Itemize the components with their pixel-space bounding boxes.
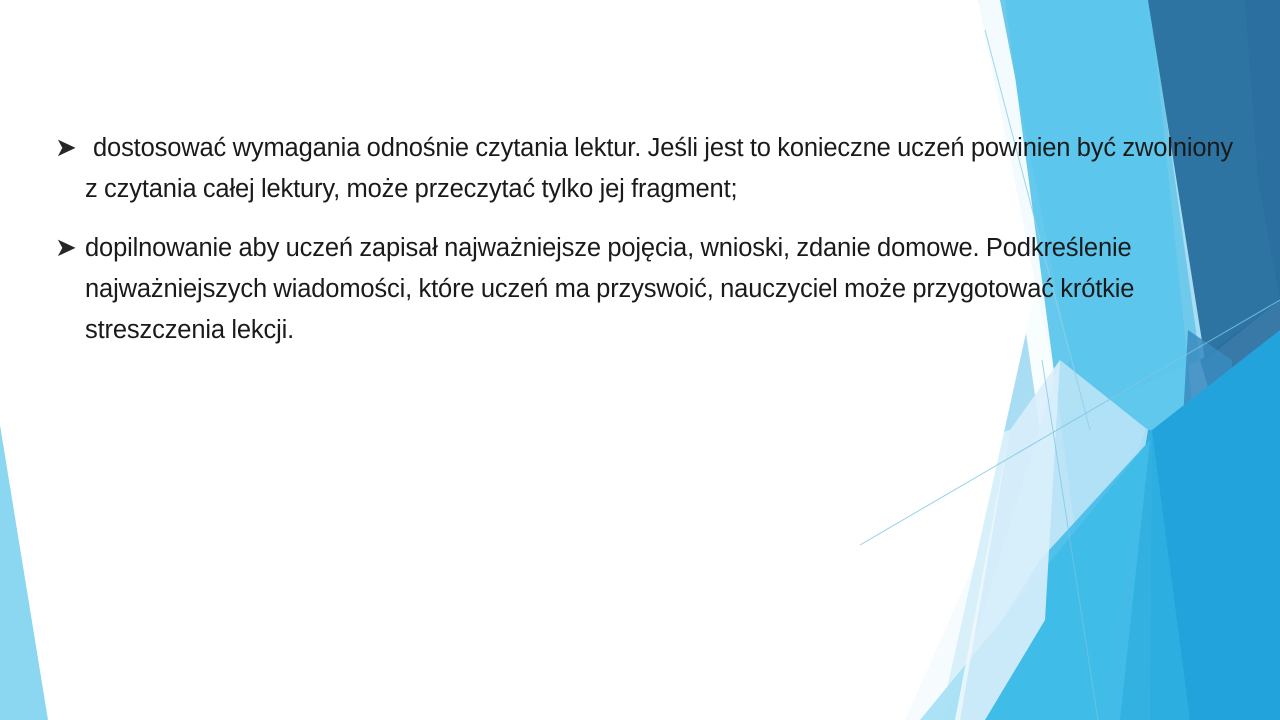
hairline-diagonal-steep [1042,360,1098,720]
cyan-bottom-left-triangle-shape [920,440,1150,720]
list-item-text: dopilnowanie aby uczeń zapisał najważnie… [85,228,1240,351]
palest-lower-sliver-shape [955,360,1060,720]
bright-blue-lower-field-shape [1150,330,1280,720]
bottom-left-sliver-shape [0,425,48,720]
presentation-slide: ➤ dostosować wymagania odnośnie czytania… [0,0,1280,720]
white-gap-slash-shape [905,430,1010,720]
decorative-background-graphic [0,0,1280,720]
cyan-sweep-shape [1005,0,1225,720]
arrowhead-bullet-icon: ➤ [55,228,85,268]
arrowhead-bullet-icon: ➤ [55,128,85,168]
deep-blue-right-strip-shape [1245,0,1280,300]
list-item: ➤ dopilnowanie aby uczeń zapisał najważn… [55,228,1240,351]
list-item-text: dostosować wymagania odnośnie czytania l… [85,128,1240,210]
list-item: ➤ dostosować wymagania odnośnie czytania… [55,128,1240,210]
light-blue-band-shape [940,0,1280,720]
pale-lower-left-wedge-shape [950,360,1148,720]
steel-blue-band-shape [1175,330,1232,620]
body-text-placeholder: ➤ dostosować wymagania odnośnie czytania… [55,128,1240,351]
bright-blue-lower-wedge-shape [1060,430,1190,720]
cyan-bottom-sweep-shape [940,440,1150,720]
